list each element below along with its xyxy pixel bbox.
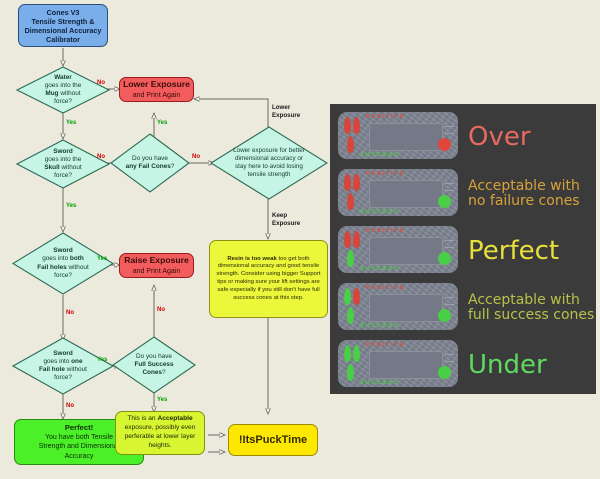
title-box: Cones V3 Tensile Strength & Dimensional … [18, 4, 108, 47]
cone-indicator [353, 174, 360, 191]
raise-exposure-line2: and Print Again [133, 267, 180, 276]
acceptable-line2: exposure, possibly even [125, 424, 196, 431]
card-tick-mark [445, 240, 454, 241]
verdict-label: Over [468, 123, 531, 151]
cone-indicator [344, 288, 351, 305]
decision-water-mug: Water goes into the Mug without force? [16, 66, 110, 114]
water-mug-l5: force? [54, 98, 72, 105]
action-lower-exposure[interactable]: Lower Exposure and Print Again [119, 77, 194, 102]
edge-label-lower-exposure-2: Exposure [272, 112, 300, 119]
edge-label-no-skull: No [97, 154, 105, 160]
decision-lower-exposure-tradeoff: Lower exposure for better dimensional ac… [210, 126, 328, 200]
perfect-line2: You have both Tensile [45, 433, 113, 442]
edge-label-yes-swordboth: Yes [97, 256, 107, 262]
cone-indicator [344, 174, 351, 191]
cone-indicator [353, 231, 360, 248]
card-success-label: SUCCESS [360, 266, 400, 272]
cone-indicator [347, 307, 354, 324]
edge-label-no-swordone: No [66, 403, 74, 409]
sword-one-l2: goes into [43, 358, 71, 365]
verdict-label: Acceptable withfull success cones [468, 293, 594, 323]
cone-indicator [347, 364, 354, 381]
result-acceptable: This is an Acceptable exposure, possibly… [115, 411, 205, 455]
calibration-card: POSITIVESUCCESS [338, 112, 458, 159]
edge-label-no-fullsucc: No [157, 307, 165, 313]
edge-label-keep-exposure-2: Exposure [272, 220, 300, 227]
decision-full-success-label: Do you have Full Success Cones? [112, 336, 196, 394]
full-succ-l3: Cones [142, 369, 162, 376]
water-mug-l4: without [59, 90, 81, 97]
decision-any-fail-cones-label: Do you have any Fail Cones? [110, 133, 190, 193]
acceptable-line4: heights. [148, 442, 171, 449]
note-resin-too-weak: Resin is too weak too get both dimension… [209, 240, 328, 318]
title-line-4: Calibrator [46, 35, 80, 44]
edge-label-yes-failcones: Yes [157, 120, 167, 126]
edge-label-yes-fullsucc: Yes [157, 397, 167, 403]
verdict-label: Acceptable withno failure cones [468, 179, 580, 209]
sword-both-l6: force? [54, 272, 72, 279]
sword-skull-l4: without [60, 164, 82, 171]
card-tick-mark [445, 304, 454, 305]
cone-indicator [347, 193, 354, 210]
decision-any-fail-cones: Do you have any Fail Cones? [110, 133, 190, 193]
any-fail-l3: ? [171, 163, 175, 170]
verdict-label: Under [468, 351, 547, 379]
cone-indicator [344, 231, 351, 248]
card-tick-mark [445, 247, 454, 248]
decision-lower-exposure-label: Lower exposure for better dimensional ac… [210, 126, 328, 200]
calibration-card: POSITIVESUCCESS [338, 283, 458, 330]
sword-skull-l5: force? [54, 172, 72, 179]
sword-one-l4: Fail hole [39, 366, 65, 373]
card-positive-label: POSITIVE [366, 228, 405, 234]
verdict-line-1: Acceptable with [468, 179, 580, 194]
card-success-label: SUCCESS [360, 380, 400, 386]
sword-one-l5: without [65, 366, 87, 373]
cone-indicator [353, 345, 360, 362]
edge-label-no-water: No [97, 80, 105, 86]
verdict-label: Perfect [468, 237, 559, 265]
card-success-label: SUCCESS [360, 209, 400, 215]
calibration-photo-panel: POSITIVESUCCESSOverPOSITIVESUCCESSAccept… [330, 104, 596, 394]
status-dot [438, 252, 451, 265]
card-positive-label: POSITIVE [366, 285, 405, 291]
acceptable-bold: Acceptable [157, 415, 192, 422]
resin-note-rest: too get both dimensional accuracy and go… [216, 256, 320, 301]
sword-both-l4: Fail holes [37, 264, 66, 271]
calibration-card: POSITIVESUCCESS [338, 340, 458, 387]
decision-sword-one-label: Sword goes into one Fail hole without fo… [12, 337, 114, 395]
perfect-line1: Perfect! [65, 423, 93, 433]
puck-time-label: !ItsPuckTime [239, 434, 307, 446]
lower-exposure-line1: Lower Exposure [123, 79, 190, 90]
calibration-card: POSITIVESUCCESS [338, 226, 458, 273]
decision-sword-one-fail-hole: Sword goes into one Fail hole without fo… [12, 337, 114, 395]
sword-both-l5: without [67, 264, 89, 271]
decision-water-mug-label: Water goes into the Mug without force? [16, 66, 110, 114]
card-inner-panel [369, 351, 443, 379]
card-success-label: SUCCESS [360, 323, 400, 329]
cone-indicator [353, 117, 360, 134]
sword-skull-l3: Skull [44, 164, 59, 171]
acceptable-line3: perferable at lower layer [125, 433, 196, 440]
card-tick-mark [445, 354, 454, 355]
status-dot [438, 309, 451, 322]
title-line-1: Cones V3 [47, 8, 80, 17]
verdict-line-2: full success cones [468, 308, 594, 323]
card-tick-mark [445, 133, 454, 134]
cone-indicator [353, 288, 360, 305]
decision-full-success-cones: Do you have Full Success Cones? [112, 336, 196, 394]
card-positive-label: POSITIVE [366, 342, 405, 348]
card-inner-panel [369, 123, 443, 151]
decision-sword-skull-label: Sword goes into the Skull without force? [16, 139, 110, 189]
card-tick-mark [445, 183, 454, 184]
status-dot [438, 366, 451, 379]
edge-label-no-swordboth: No [66, 310, 74, 316]
edge-label-lower-exposure-1: Lower [272, 104, 290, 111]
status-dot [438, 138, 451, 151]
status-dot [438, 195, 451, 208]
decision-sword-both-fail-holes: Sword goes into both Fail holes without … [12, 232, 114, 295]
card-tick-mark [445, 297, 454, 298]
edge-label-yes-skull: Yes [66, 203, 76, 209]
raise-exposure-line1: Raise Exposure [124, 255, 188, 266]
water-mug-l3: Mug [45, 90, 58, 97]
card-inner-panel [369, 180, 443, 208]
action-raise-exposure[interactable]: Raise Exposure and Print Again [119, 253, 194, 278]
card-tick-mark [445, 361, 454, 362]
resin-note-bold: Resin is too weak [227, 256, 276, 262]
title-line-2: Tensile Strength & [32, 17, 95, 26]
card-positive-label: POSITIVE [366, 171, 405, 177]
perfect-line4: Accuracy [65, 452, 94, 461]
edge-label-yes-swordone: Yes [97, 357, 107, 363]
full-succ-l4: ? [162, 369, 166, 376]
acceptable-line1: This is an [127, 415, 157, 422]
water-mug-l1: Water [54, 74, 72, 81]
sword-skull-l2: goes into the [45, 156, 82, 163]
any-fail-l1: Do you have [132, 155, 168, 162]
card-inner-panel [369, 294, 443, 322]
card-positive-label: POSITIVE [366, 114, 405, 120]
perfect-line3: Strength and Dimensional [39, 442, 120, 451]
sword-one-l3: one [71, 358, 82, 365]
sword-both-l3: both [70, 255, 84, 262]
edge-label-keep-exposure-1: Keep [272, 212, 287, 219]
verdict-line-2: no failure cones [468, 194, 580, 209]
decision-sword-skull: Sword goes into the Skull without force? [16, 139, 110, 189]
cone-indicator [347, 136, 354, 153]
cone-indicator [344, 345, 351, 362]
flowchart-canvas: Cones V3 Tensile Strength & Dimensional … [0, 0, 600, 479]
decision-sword-both-label: Sword goes into both Fail holes without … [12, 232, 114, 295]
full-succ-l2: Full Success [134, 361, 173, 368]
full-succ-l1: Do you have [136, 353, 172, 360]
card-success-label: SUCCESS [360, 152, 400, 158]
sword-one-l6: force? [54, 374, 72, 381]
cone-indicator [347, 250, 354, 267]
edge-label-yes-water: Yes [66, 120, 76, 126]
sword-both-l1: Sword [53, 247, 73, 254]
sword-one-l1: Sword [53, 350, 73, 357]
card-inner-panel [369, 237, 443, 265]
any-fail-l2: any Fail Cones [126, 163, 171, 170]
card-tick-mark [445, 190, 454, 191]
sword-both-l2: goes into [42, 255, 70, 262]
calibration-card: POSITIVESUCCESS [338, 169, 458, 216]
sword-skull-l1: Sword [53, 148, 73, 155]
edge-label-no-failcones: No [192, 154, 200, 160]
verdict-line-1: Acceptable with [468, 293, 594, 308]
result-puck-time: !ItsPuckTime [228, 424, 318, 456]
card-tick-mark [445, 126, 454, 127]
water-mug-l2: goes into the [45, 82, 82, 89]
lower-exposure-line2: and Print Again [133, 91, 180, 100]
title-line-3: Dimensional Accuracy [25, 26, 102, 35]
cone-indicator [344, 117, 351, 134]
